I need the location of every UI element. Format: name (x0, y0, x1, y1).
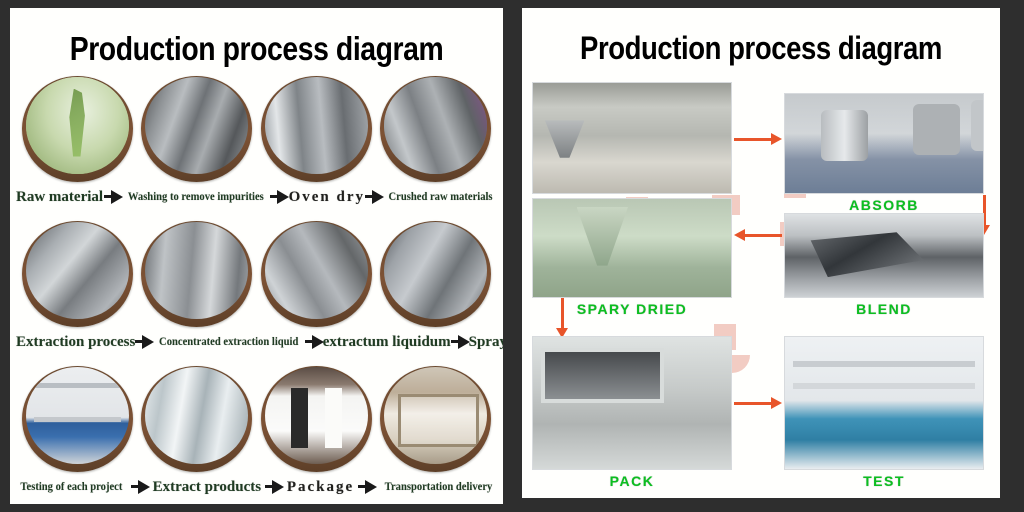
step-label-oven-dry: Oven dry (289, 189, 365, 206)
step-label-spray-drying: Spray drying (469, 334, 503, 351)
arrow-right-icon (451, 335, 469, 349)
process-step-spray-drying[interactable] (380, 221, 491, 327)
arrow-pack-to-test (734, 396, 782, 410)
arrow-right-icon (365, 190, 383, 204)
palletized-crates-image (384, 367, 487, 464)
step-label-washing: Washing to remove impurities (128, 191, 264, 203)
spray-dryer-image (384, 222, 487, 319)
step-label-extract-products: Extract products (153, 479, 261, 496)
concentration-tanks-image (145, 222, 248, 319)
process-row-3-labels: Testing of each project Extract products… (10, 476, 503, 498)
process-row-1-labels: Raw material Washing to remove impuritie… (10, 186, 503, 208)
washing-tanks-image (145, 77, 248, 174)
arrow-right-icon (270, 190, 288, 204)
right-photo-panel: Production process diagram EXTRACT ABSOR… (522, 8, 1000, 498)
process-step-transportation[interactable] (380, 366, 491, 472)
photo-step-pack[interactable]: PACK (532, 336, 732, 492)
packing-operator-photo (532, 336, 732, 470)
arrow-spary-dried-to-pack (555, 298, 569, 338)
raw-material-plant-extract-image (26, 77, 129, 174)
spray-dryer-photo (532, 198, 732, 298)
process-row-1: Raw material Washing to remove impuritie… (10, 76, 503, 221)
process-step-oven-dry[interactable] (261, 76, 372, 182)
step-label-raw-material: Raw material (16, 189, 103, 206)
step-label-testing: Testing of each project (20, 481, 122, 493)
step-label-transportation: Transportation delivery (385, 481, 493, 493)
arrow-right-icon (265, 480, 283, 494)
packaging-bags-image (265, 367, 368, 464)
arrow-extract-to-absorb (734, 132, 782, 146)
left-panel-title: Production process diagram (45, 30, 469, 68)
blender-photo (784, 213, 984, 298)
arrow-blend-to-spary-dried (734, 228, 782, 242)
photo-caption-blend: BLEND (784, 298, 984, 320)
right-panel-title: Production process diagram (555, 30, 966, 67)
arrow-right-icon (131, 480, 149, 494)
left-process-grid: Raw material Washing to remove impuritie… (10, 76, 503, 504)
extraction-tanks-photo (532, 82, 732, 194)
process-step-extraction[interactable] (22, 221, 133, 327)
step-label-crushed: Crushed raw materials (388, 191, 492, 203)
arrow-right-icon (104, 190, 122, 204)
arrow-right-icon (135, 335, 153, 349)
process-step-testing[interactable] (22, 366, 133, 472)
process-step-extract-products[interactable] (141, 366, 252, 472)
extract-product-bottles-image (145, 367, 248, 464)
photo-step-extract[interactable]: EXTRACT (532, 82, 732, 216)
process-row-2: Extraction process Concentrated extracti… (10, 221, 503, 366)
qc-lab-photo (784, 336, 984, 470)
photo-caption-test: TEST (784, 470, 984, 492)
process-step-package[interactable] (261, 366, 372, 472)
oven-dryer-image (265, 77, 368, 174)
process-step-washing[interactable] (141, 76, 252, 182)
process-step-crushed[interactable] (380, 76, 491, 182)
photo-step-test[interactable]: TEST (784, 336, 984, 492)
step-label-package: Package (287, 479, 354, 496)
step-label-concentrated-liquid: Concentrated extraction liquid (159, 336, 298, 348)
crushing-line-image (384, 77, 487, 174)
process-step-concentrated[interactable] (141, 221, 252, 327)
left-diagram-panel: Production process diagram (10, 8, 503, 504)
absorption-columns-photo (784, 93, 984, 194)
photo-step-absorb[interactable]: ABSORB (784, 93, 984, 216)
evaporator-image (265, 222, 368, 319)
arrow-right-icon (305, 335, 323, 349)
step-label-extraction-process: Extraction process (16, 334, 135, 351)
qc-laboratory-image (26, 367, 129, 464)
process-step-raw-material[interactable] (22, 76, 133, 182)
screenshot-root: Production process diagram (0, 0, 1024, 512)
arrow-right-icon (358, 480, 376, 494)
extraction-plant-image (26, 222, 129, 319)
photo-step-blend[interactable]: BLEND (784, 213, 984, 320)
process-step-extractum[interactable] (261, 221, 372, 327)
process-row-3: Testing of each project Extract products… (10, 366, 503, 504)
process-row-2-labels: Extraction process Concentrated extracti… (10, 331, 503, 353)
photo-caption-pack: PACK (532, 470, 732, 492)
step-label-extractum-liquidum: extractum liquidum (323, 334, 451, 351)
